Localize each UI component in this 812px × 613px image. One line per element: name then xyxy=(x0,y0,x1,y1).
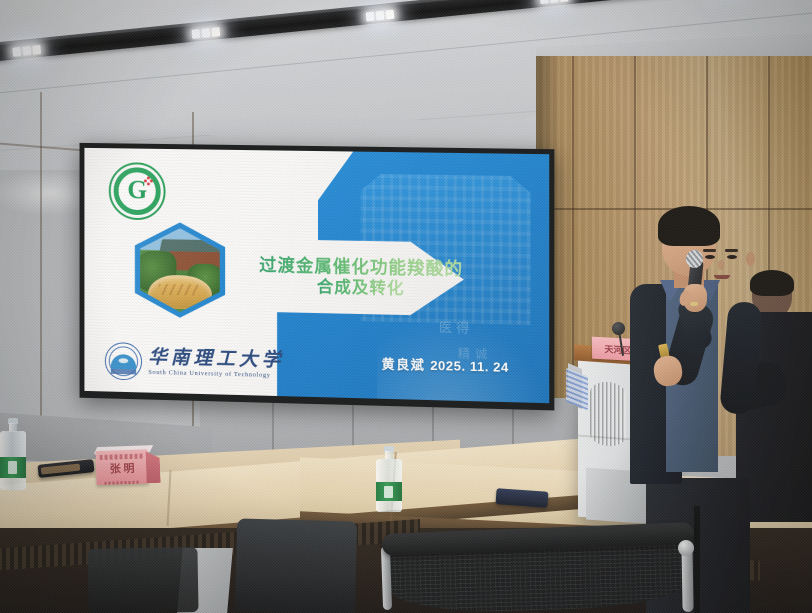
mesh-office-chair-foreground[interactable] xyxy=(382,528,712,613)
speaker-ring xyxy=(690,302,698,306)
speaker-eye xyxy=(727,255,737,259)
seal-band xyxy=(111,369,136,375)
mesh-office-chair[interactable] xyxy=(87,547,198,613)
scut-name-cn: 华南理工大学 xyxy=(148,348,284,370)
guangdong-medical-university-seal-icon: G xyxy=(109,162,166,220)
speaker-eyebrow xyxy=(703,249,716,252)
scut-wordmark: 华南理工大学 South China University of Technol… xyxy=(148,348,284,380)
slide-presenter-byline: 黄良斌 2025. 11. 24 xyxy=(382,354,509,376)
track-light-cluster xyxy=(9,44,44,57)
bottle-label xyxy=(0,457,26,478)
slide-title-line-2: 合成及转化 xyxy=(317,278,405,299)
track-light-cluster xyxy=(363,8,398,21)
speaker-nose xyxy=(718,260,724,270)
projection-screen[interactable]: 医得 精诚 G xyxy=(80,143,555,411)
medical-cross-icon xyxy=(144,176,153,185)
chair-adjust-knob[interactable] xyxy=(678,540,694,556)
speaker-mouth xyxy=(714,275,730,279)
presentation-slide: 医得 精诚 G xyxy=(84,148,549,403)
gooseneck-microphone-icon xyxy=(612,322,625,335)
slide-title-line-1: 过渡金属催化功能羧酸的 xyxy=(259,255,463,279)
name-card-subtitle-line xyxy=(105,481,141,485)
wall-panel-seam xyxy=(40,92,42,442)
lecture-hall-photo: 医得 精诚 G xyxy=(0,0,812,613)
track-light-cluster xyxy=(537,0,572,4)
bottle-body xyxy=(0,431,26,490)
scut-logo: 华南理工大学 South China University of Technol… xyxy=(105,340,284,386)
water-bottle[interactable] xyxy=(376,446,402,512)
bottle-body xyxy=(376,459,402,512)
campus-photo-inner xyxy=(136,227,224,313)
presenter-date: 2025. 11. 24 xyxy=(430,358,509,375)
name-card-text: 张 明 xyxy=(101,461,143,475)
panel-seam xyxy=(272,398,274,454)
water-bottle[interactable] xyxy=(0,418,26,490)
engraved-stone xyxy=(148,275,212,310)
track-light-cluster xyxy=(188,26,223,39)
speaker-ear xyxy=(746,252,755,266)
speaker-eyebrow xyxy=(725,249,738,252)
slide-title: 过渡金属催化功能羧酸的 合成及转化 xyxy=(231,240,493,314)
presenter-name: 黄良斌 xyxy=(382,357,426,373)
mesh-office-chair[interactable] xyxy=(235,518,357,613)
chair-mesh-back xyxy=(389,544,687,613)
speaker-hair xyxy=(658,206,720,246)
speaker-eye xyxy=(705,255,715,259)
bottle-label xyxy=(376,482,402,501)
table-name-card[interactable]: 张 明 xyxy=(95,443,162,489)
scut-seal-icon xyxy=(105,342,142,381)
scut-name-en: South China University of Technology xyxy=(148,370,284,380)
slide-calligraphy-overlay-1: 医得 xyxy=(439,317,473,337)
name-card-side xyxy=(146,451,161,483)
